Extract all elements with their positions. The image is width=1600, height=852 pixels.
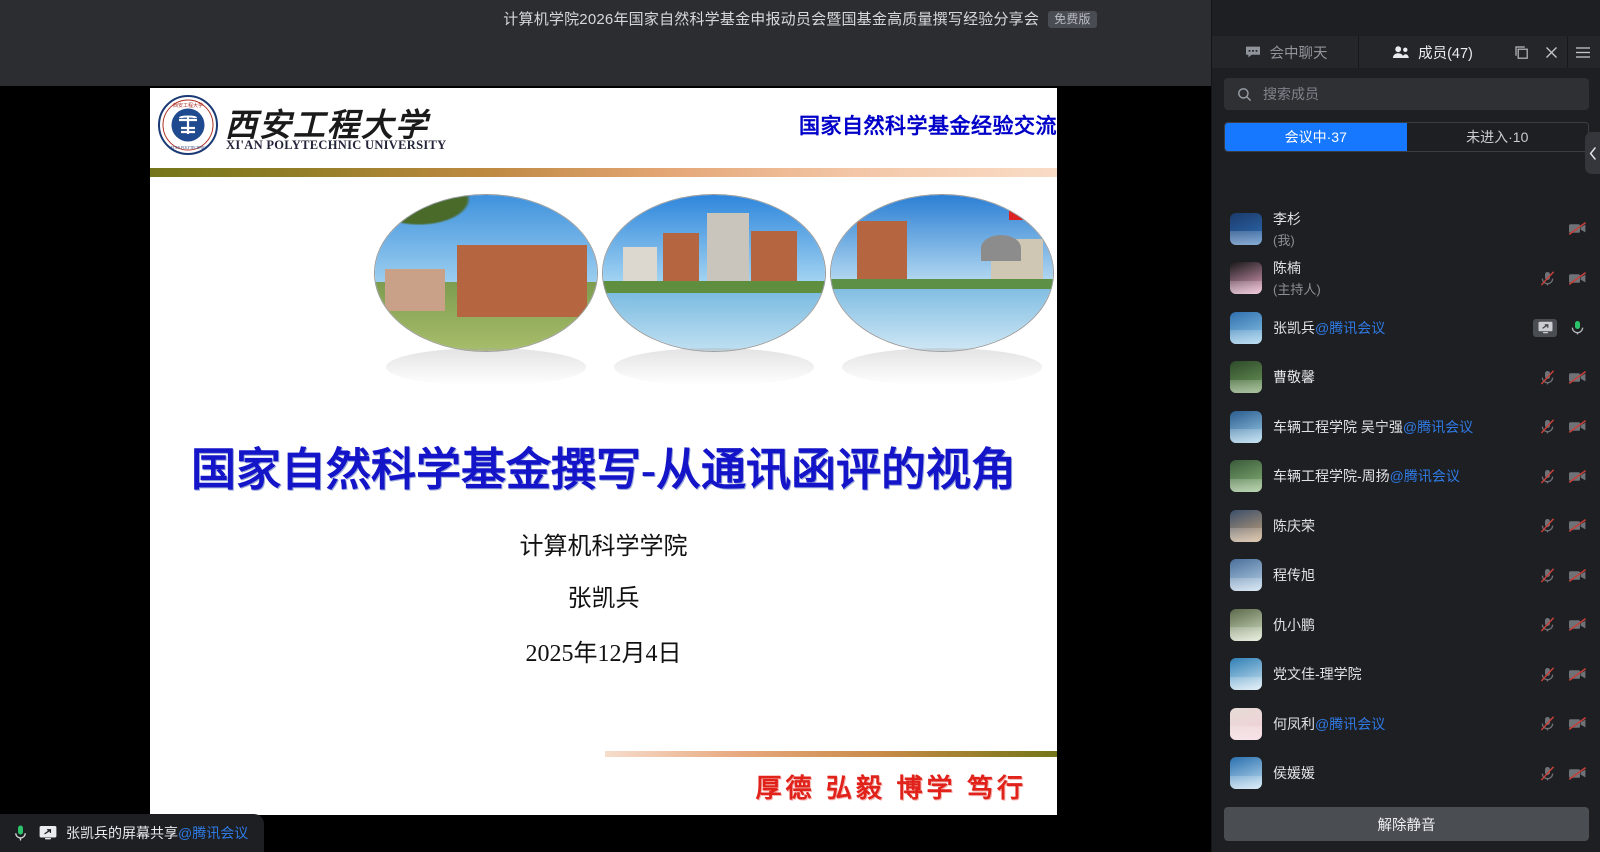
participant-name: 侯媛媛 [1273,763,1526,783]
participant-name-block: 曹敬馨 [1273,367,1526,387]
participant-name: 陈楠 [1273,258,1526,278]
avatar [1230,559,1262,591]
participant-name: 曹敬馨 [1273,367,1526,387]
participant-row[interactable]: 侯媛媛 [1212,749,1600,797]
photo-reflection-1 [386,348,586,386]
participant-status-icons [1537,664,1587,684]
mic-off-icon[interactable] [1537,268,1557,288]
mic-active-icon[interactable] [1567,318,1587,338]
participant-name-block: 李杉 (我) [1273,209,1556,249]
participant-name-suffix: @腾讯会议 [1315,716,1385,732]
avatar [1230,757,1262,789]
participant-name: 陈庆荣 [1273,516,1526,536]
menu-icon[interactable] [1567,36,1597,68]
participant-status-icons [1537,615,1587,635]
panel-tab-bar: 会中聊天 成员(47) [1212,36,1600,68]
participant-name-block: 仇小鹏 [1273,615,1526,635]
participant-status-icons [1533,318,1587,338]
filter-in-meeting[interactable]: 会议中·37 [1225,123,1407,151]
search-icon [1234,84,1254,104]
participant-status-icons [1537,565,1587,585]
participant-name: 党文佳-理学院 [1273,664,1526,684]
campus-photo-3 [830,194,1054,352]
panel-body: 会议中·37 未进入·10 李杉 (我) 陈楠 (主持人) 张凯兵@腾讯会议 [1212,68,1600,852]
participant-name: 李杉 [1273,209,1556,229]
share-owner-name: 张凯兵的屏幕共享 [66,825,178,841]
participant-name-block: 陈楠 (主持人) [1273,258,1526,298]
participant-status-icons [1537,516,1587,536]
camera-off-icon[interactable] [1567,615,1587,635]
participant-status-icons [1537,466,1587,486]
popout-panel-button[interactable] [1507,36,1535,68]
chevron-left-icon [1589,147,1597,160]
mic-off-icon[interactable] [1537,367,1557,387]
avatar [1230,361,1262,393]
participant-name-block: 程传旭 [1273,565,1526,585]
slide-gradient-bar-bottom [605,751,1057,757]
panel-action-buttons [1505,36,1600,68]
screen-share-icon [38,823,58,843]
screen-share-status-bar: 张凯兵的屏幕共享@腾讯会议 [0,814,264,852]
camera-off-icon[interactable] [1567,367,1587,387]
participant-name: 何凤利@腾讯会议 [1273,714,1526,734]
photo-reflection-2 [614,348,814,386]
avatar [1230,510,1262,542]
mic-off-icon[interactable] [1537,615,1557,635]
slide-title: 国家自然科学基金撰写-从通讯函评的视角 [150,433,1057,498]
avatar [1230,609,1262,641]
participant-name-block: 车辆工程学院 吴宁强@腾讯会议 [1273,417,1526,437]
svg-text:西安工程大学: 西安工程大学 [173,102,203,109]
participant-row[interactable]: 车辆工程学院-周扬@腾讯会议 [1212,452,1600,502]
avatar [1230,460,1262,492]
participant-name: 车辆工程学院 吴宁强@腾讯会议 [1273,417,1526,437]
participant-role: (我) [1273,230,1556,249]
participant-name-block: 车辆工程学院-周扬@腾讯会议 [1273,466,1526,486]
free-version-badge: 免费版 [1048,11,1097,28]
participant-row[interactable]: 何凤利@腾讯会议 [1212,699,1600,749]
mic-off-icon[interactable] [1537,763,1557,783]
participant-name: 张凯兵@腾讯会议 [1273,318,1522,338]
screen-share-status-text: 张凯兵的屏幕共享@腾讯会议 [66,823,248,843]
participant-status-icons [1537,417,1587,437]
participant-row[interactable]: 党文佳-理学院 [1212,650,1600,700]
slide-subtitle-presenter: 张凯兵 [150,578,1057,613]
university-seal-icon: 西安工程大学 XI'AN POLYTECHNIC [157,94,219,156]
participant-row[interactable]: 陈楠 (主持人) [1212,254,1600,304]
slide-header-right-text: 国家自然科学基金经验交流 [799,110,1057,140]
university-motto: 厚德 弘毅 博学 笃行 [755,768,1027,805]
participant-row[interactable]: 李杉 (我) [1212,204,1600,254]
window-title: 计算机学院2026年国家自然科学基金申报动员会暨国基金高质量撰写经验分享会免费版 [503,8,1096,29]
participant-row[interactable]: 仇小鹏 [1212,600,1600,650]
participant-status-icons [1537,763,1587,783]
participant-row[interactable]: 程传旭 [1212,551,1600,601]
campus-photo-group [150,188,1057,388]
participant-name-suffix: @腾讯会议 [1315,320,1385,336]
participant-name-block: 侯媛媛 [1273,763,1526,783]
participant-role: (主持人) [1273,279,1526,298]
camera-off-icon[interactable] [1567,268,1587,288]
participant-name-suffix: @腾讯会议 [1390,468,1460,484]
participant-row[interactable]: 车辆工程学院 吴宁强@腾讯会议 [1212,402,1600,452]
mic-off-icon[interactable] [1537,565,1557,585]
university-name-en: XI'AN POLYTECHNIC UNIVERSITY [226,138,446,153]
participant-status-icons [1567,219,1587,239]
participant-name-block: 张凯兵@腾讯会议 [1273,318,1522,338]
mic-off-icon[interactable] [1537,417,1557,437]
participant-filter-tabs: 会议中·37 未进入·10 [1224,122,1589,152]
search-box[interactable] [1224,78,1589,110]
participant-name-block: 党文佳-理学院 [1273,664,1526,684]
slide-subtitle-date: 2025年12月4日 [150,633,1057,668]
chat-icon [1243,42,1263,62]
participant-row[interactable]: 陈庆荣 [1212,501,1600,551]
camera-off-icon[interactable] [1567,714,1587,734]
tab-chat[interactable]: 会中聊天 [1212,36,1359,68]
avatar [1230,411,1262,443]
slide-gradient-bar-top [150,168,1057,177]
participant-status-icons [1537,714,1587,734]
presentation-slide: 西安工程大学 XI'AN POLYTECHNIC 西安工程大学 XI'AN PO… [150,88,1057,815]
photo-reflection-3 [842,348,1042,386]
close-panel-button[interactable] [1537,36,1565,68]
mic-off-icon[interactable] [1537,664,1557,684]
camera-off-icon[interactable] [1567,565,1587,585]
window-title-text: 计算机学院2026年国家自然科学基金申报动员会暨国基金高质量撰写经验分享会 [503,11,1039,28]
mic-off-icon[interactable] [1537,516,1557,536]
mic-off-icon[interactable] [1537,714,1557,734]
university-name-cn: 西安工程大学 [225,109,429,141]
shared-screen-stage: 西安工程大学 XI'AN POLYTECHNIC 西安工程大学 XI'AN PO… [0,36,1211,852]
svg-text:XI'AN POLYTECHNIC: XI'AN POLYTECHNIC [170,146,206,150]
tab-members[interactable]: 成员(47) [1359,36,1505,68]
camera-off-icon[interactable] [1567,466,1587,486]
participant-row[interactable]: 曹敬馨 [1212,353,1600,403]
camera-off-icon[interactable] [1567,664,1587,684]
participant-name: 车辆工程学院-周扬@腾讯会议 [1273,466,1526,486]
participants-panel: 会中聊天 成员(47) [1211,0,1600,852]
camera-off-icon[interactable] [1567,763,1587,783]
participant-row[interactable]: 张凯兵@腾讯会议 [1212,303,1600,353]
avatar [1230,658,1262,690]
microphone-active-icon [10,823,30,843]
unmute-button[interactable]: 解除静音 [1224,807,1589,841]
members-icon [1391,42,1411,62]
participant-name: 程传旭 [1273,565,1526,585]
camera-off-icon[interactable] [1567,417,1587,437]
slide-subtitle-department: 计算机科学学院 [150,526,1057,561]
search-area [1212,68,1600,110]
camera-off-icon[interactable] [1567,516,1587,536]
participant-name-block: 陈庆荣 [1273,516,1526,536]
participant-status-icons [1537,268,1587,288]
meeting-window: 计算机学院2026年国家自然科学基金申报动员会暨国基金高质量撰写经验分享会免费版 [0,0,1600,852]
stage-top-strip [0,36,1211,86]
participant-status-icons [1537,367,1587,387]
campus-photo-2 [602,194,826,352]
participant-name: 仇小鹏 [1273,615,1526,635]
slide-header: 西安工程大学 XI'AN POLYTECHNIC 西安工程大学 XI'AN PO… [150,88,1057,168]
avatar [1230,262,1262,294]
camera-off-icon[interactable] [1567,219,1587,239]
participant-list[interactable]: 李杉 (我) 陈楠 (主持人) 张凯兵@腾讯会议 曹敬馨 [1212,204,1600,796]
tab-members-label: 成员(47) [1418,42,1473,63]
share-app-suffix: @腾讯会议 [178,825,248,841]
avatar [1230,312,1262,344]
tab-chat-label: 会中聊天 [1270,42,1328,63]
mic-off-icon[interactable] [1537,466,1557,486]
participant-name-suffix: @腾讯会议 [1403,419,1473,435]
filter-not-joined[interactable]: 未进入·10 [1407,123,1589,151]
avatar [1230,708,1262,740]
search-input[interactable] [1263,86,1579,102]
participant-name-block: 何凤利@腾讯会议 [1273,714,1526,734]
collapse-panel-button[interactable] [1585,132,1600,174]
avatar [1230,213,1262,245]
sharing-screen-icon [1533,319,1557,337]
campus-photo-1 [374,194,598,352]
